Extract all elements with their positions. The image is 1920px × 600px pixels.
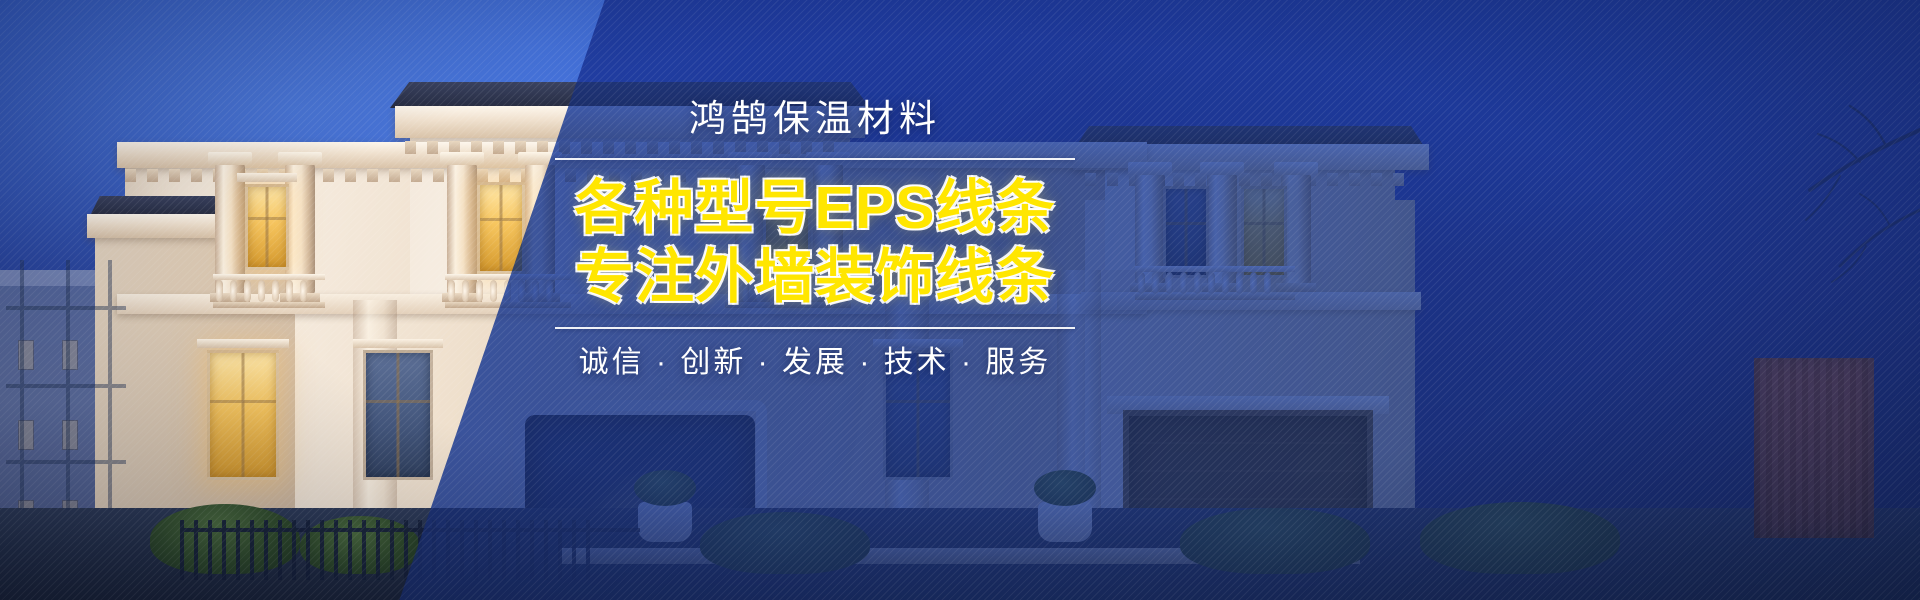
banner-copy: 鸿鹄保温材料 各种型号EPS线条 专注外墙装饰线条 诚信 · 创新 · 发展 ·… bbox=[555, 96, 1075, 382]
brand-subtitle: 鸿鹄保温材料 bbox=[555, 96, 1075, 142]
headline-line-2: 专注外墙装饰线条 bbox=[555, 243, 1075, 311]
promo-banner: 鸿鹄保温材料 各种型号EPS线条 专注外墙装饰线条 诚信 · 创新 · 发展 ·… bbox=[0, 0, 1920, 600]
headline-line-1: 各种型号EPS线条 bbox=[555, 174, 1075, 242]
tagline: 诚信 · 创新 · 发展 · 技术 · 服务 bbox=[555, 343, 1075, 382]
scaffolding bbox=[6, 260, 126, 510]
divider-bottom bbox=[555, 327, 1075, 329]
divider-top bbox=[555, 158, 1075, 160]
